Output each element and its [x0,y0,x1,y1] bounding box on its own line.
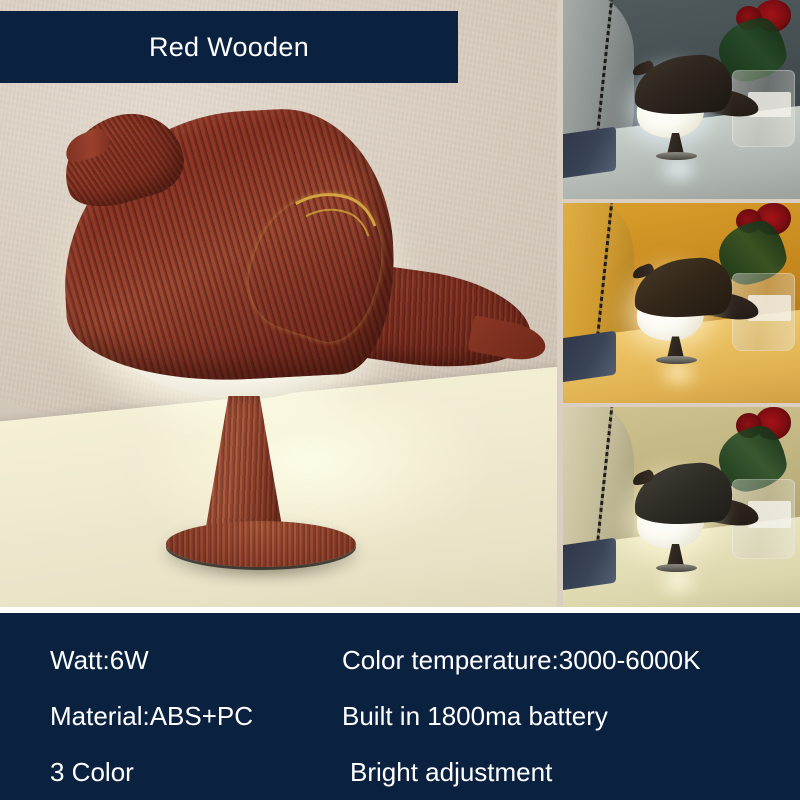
spec-battery: Built in 1800ma battery [342,701,608,732]
scene-bed [563,331,615,384]
thumbnail-cool-white[interactable] [563,0,800,199]
spec-brightness: Bright adjustment [350,757,552,788]
scene-bird-lamp [634,259,743,347]
scene [563,407,800,612]
scene-bed [563,127,615,179]
variant-title-text: Red Wooden [149,34,309,61]
spec-color-modes: 3 Color [50,757,134,788]
spec-row: 3 Color Bright adjustment [0,749,800,795]
spec-row: Material:ABS+PC Built in 1800ma battery [0,693,800,739]
product-listing-image: Red Wooden [0,0,800,800]
thumbnail-warm-amber[interactable] [563,203,800,403]
thumbnail-column [563,0,800,612]
thumbnail-neutral-white[interactable] [563,407,800,612]
bird-lamp [0,0,557,612]
scene-lamp-base [656,356,697,364]
main-product-photo[interactable] [0,0,557,612]
spec-material: Material:ABS+PC [50,701,253,732]
spec-watt: Watt:6W [50,645,149,676]
variant-title-banner: Red Wooden [0,11,458,83]
scene [563,0,800,199]
scene-lamp-base [656,564,697,572]
specifications-panel: Watt:6W Color temperature:3000-6000K Mat… [0,613,800,800]
scene-bird-lamp [634,464,743,554]
spec-row: Watt:6W Color temperature:3000-6000K [0,637,800,683]
spec-color-temp: Color temperature:3000-6000K [342,645,700,676]
lamp-wooden-base [166,521,356,567]
scene [563,203,800,403]
scene-bird-lamp [634,56,743,144]
scene-lamp-base [656,152,697,160]
scene-bed [563,538,615,592]
